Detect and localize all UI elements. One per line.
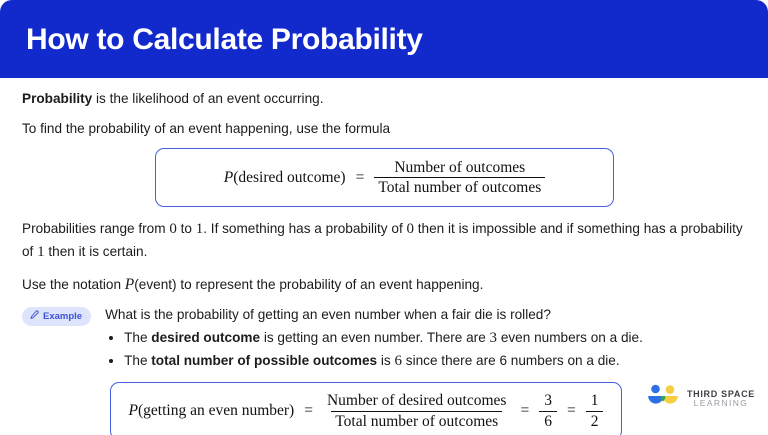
intro-definition-term: Probability (22, 91, 92, 106)
logo-wordmark: THIRD SPACE LEARNING (687, 389, 755, 409)
page-title: How to Calculate Probability (26, 23, 423, 56)
bullet-2-post: since there are 6 numbers on a die. (402, 353, 620, 368)
bullet-1-number: 3 (490, 330, 498, 346)
lesson-body: Probability is the likelihood of an even… (0, 78, 768, 435)
formula-general-denominator: Total number of outcomes (374, 177, 545, 196)
formula-general-arg: (desired outcome) (233, 169, 345, 186)
range-text-5: then it is certain. (45, 244, 148, 259)
bullet-2-bold: total number of possible outcomes (151, 353, 377, 368)
bullet-2-pre: The (124, 353, 151, 368)
example-question: What is the probability of getting an ev… (105, 305, 746, 325)
bullet-2-number: 6 (395, 353, 403, 369)
formula-example-equals-2: = (519, 402, 530, 420)
range-value-one-2: 1 (37, 244, 45, 260)
page-header: How to Calculate Probability (0, 0, 768, 78)
formula-box-worked-example: P(getting an even number) = Number of de… (110, 382, 622, 435)
formula-example-fraction-three-sixths: 3 6 (539, 392, 557, 430)
probability-range-paragraph: Probabilities range from 0 to 1. If some… (22, 218, 746, 264)
notation-text-1: Use the notation (22, 277, 125, 292)
example-badge-label: Example (43, 311, 82, 322)
formula-example-denominator: Total number of outcomes (331, 411, 502, 430)
fraction-half-denominator: 2 (586, 411, 604, 430)
formula-example-equation: P(getting an even number) = Number of de… (129, 392, 604, 430)
intro-definition: Probability is the likelihood of an even… (22, 89, 746, 110)
range-value-zero-2: 0 (407, 221, 415, 237)
formula-example-fraction-one-half: 1 2 (586, 392, 604, 430)
example-bullet-list: The desired outcome is getting an even n… (105, 327, 746, 374)
fraction-half-numerator: 1 (586, 392, 604, 410)
formula-general-fraction: Number of outcomes Total number of outco… (374, 159, 545, 197)
formula-example-p: P (129, 402, 138, 419)
fraction-3-numerator: 3 (539, 392, 557, 410)
bullet-2-mid: is (377, 353, 394, 368)
bullet-1-pre: The (124, 330, 151, 345)
notation-text-2: (event) to represent the probability of … (134, 277, 483, 292)
formula-example-fraction: Number of desired outcomes Total number … (323, 392, 511, 430)
formula-example-numerator: Number of desired outcomes (323, 392, 511, 410)
notation-p-symbol: P (125, 276, 134, 293)
list-item: The total number of possible outcomes is… (124, 350, 746, 373)
pencil-icon (29, 310, 39, 323)
formula-general-equals: = (355, 169, 366, 187)
fraction-3-denominator: 6 (539, 411, 557, 430)
formula-general-lhs: P(desired outcome) (224, 169, 346, 187)
logo-mark-icon (646, 384, 680, 413)
formula-example-equals-3: = (566, 402, 577, 420)
range-text-1: Probabilities range from (22, 221, 169, 236)
notation-paragraph: Use the notation P(event) to represent t… (22, 273, 746, 297)
third-space-learning-logo: THIRD SPACE LEARNING (646, 384, 755, 413)
formula-example-equals-1: = (303, 402, 314, 420)
bullet-1-post: even numbers on a die. (497, 330, 643, 345)
logo-line-2: LEARNING (687, 399, 755, 409)
range-text-2: to (177, 221, 196, 236)
formula-box-general: P(desired outcome) = Number of outcomes … (155, 148, 614, 207)
range-text-3: . If something has a probability of (203, 221, 406, 236)
lesson-card: How to Calculate Probability Probability… (0, 0, 768, 435)
bullet-1-mid: is getting an even number. There are (260, 330, 489, 345)
example-section: Example What is the probability of getti… (22, 305, 746, 373)
bullet-1-bold: desired outcome (151, 330, 260, 345)
formula-example-arg: (getting an even number) (138, 402, 294, 419)
formula-general-numerator: Number of outcomes (390, 159, 529, 177)
formula-example-lhs: P(getting an even number) (129, 402, 295, 420)
formula-general-p: P (224, 169, 233, 186)
example-content: What is the probability of getting an ev… (105, 305, 746, 373)
example-badge[interactable]: Example (22, 307, 91, 326)
list-item: The desired outcome is getting an even n… (124, 327, 746, 350)
intro-formula-lead: To find the probability of an event happ… (22, 119, 746, 140)
range-value-zero: 0 (169, 221, 177, 237)
intro-definition-rest: is the likelihood of an event occurring. (92, 91, 323, 106)
formula-general-equation: P(desired outcome) = Number of outcomes … (224, 159, 545, 197)
